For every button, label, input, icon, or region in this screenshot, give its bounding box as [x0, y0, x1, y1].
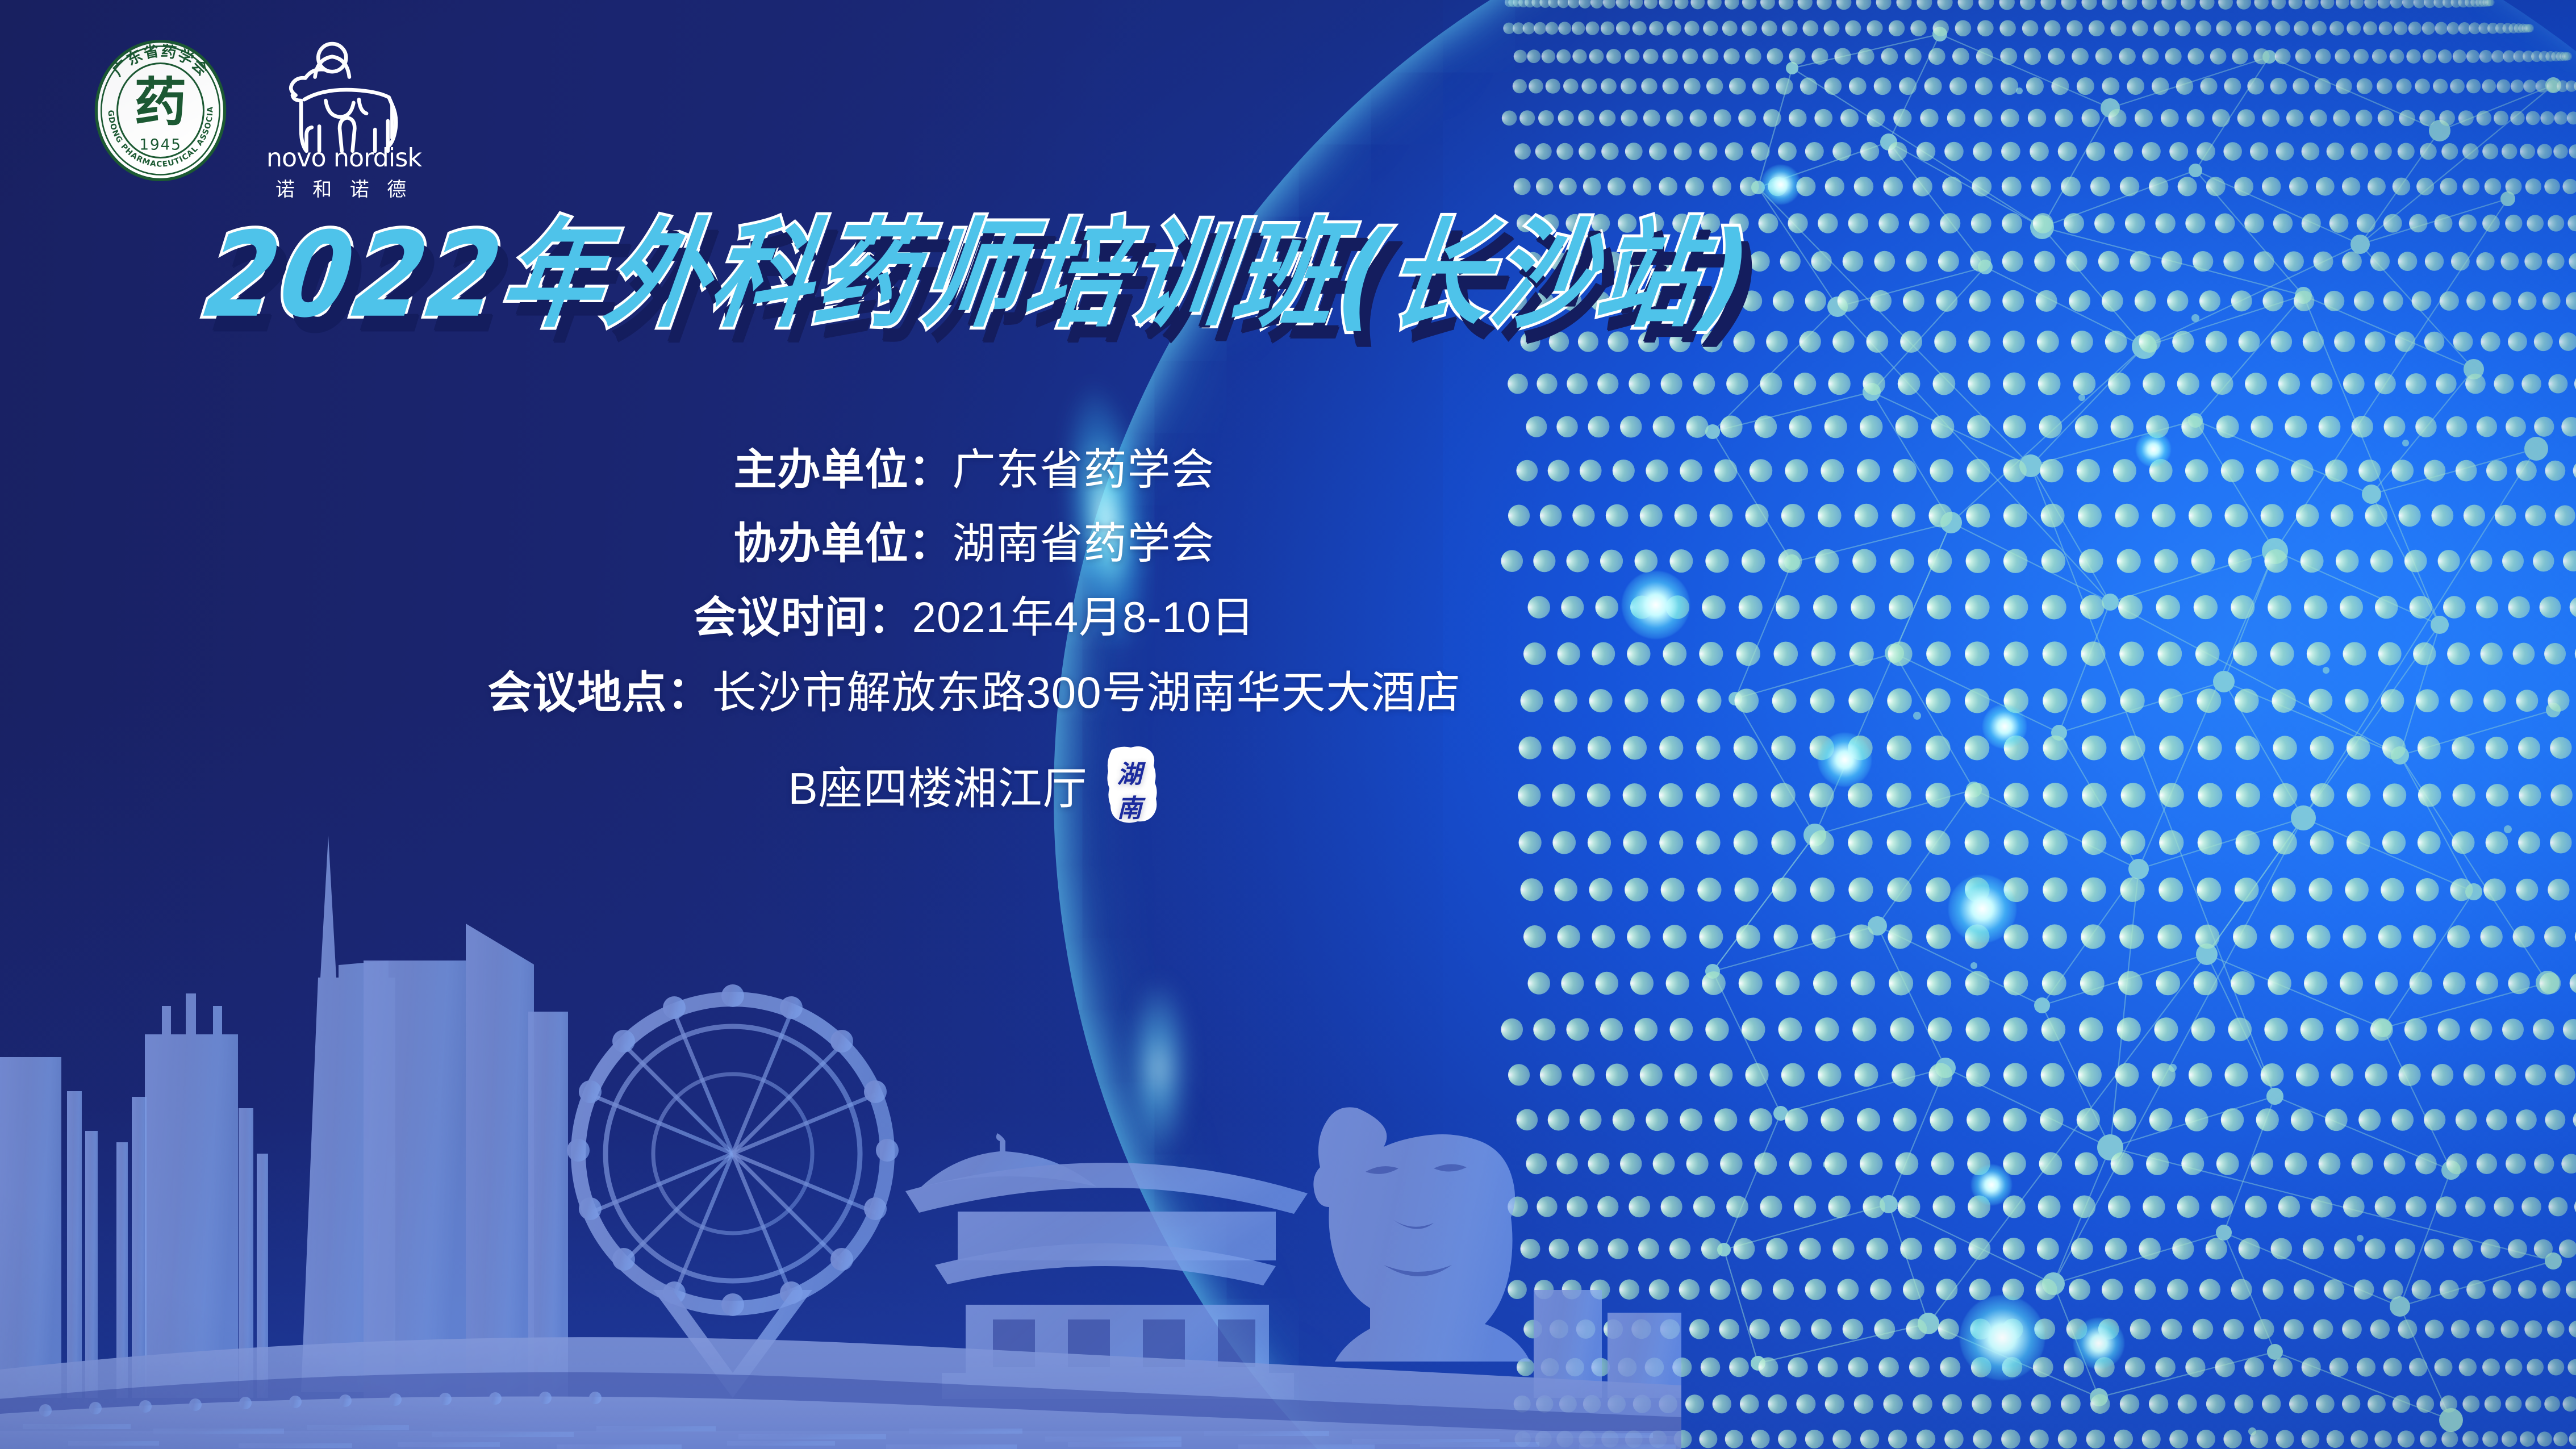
title-block: 2022年外科药师培训班(长沙站) [0, 223, 1960, 329]
venue-line: 会议地点：长沙市解放东路300号湖南华天大酒店 [0, 670, 1948, 715]
sparkle-glow [1960, 1295, 2045, 1380]
gpa-center-glyph: 药 [135, 72, 187, 133]
changsha-city-skyline [0, 790, 1681, 1449]
gpa-founded-year: 1945 [139, 136, 182, 153]
hall-value: B座四楼湘江厅 [788, 766, 1087, 811]
sparkle-glow [2136, 432, 2171, 467]
date-line: 会议时间：2021年4月8-10日 [0, 596, 1948, 640]
venue-value: 长沙市解放东路300号湖南华天大酒店 [712, 667, 1460, 717]
sponsor-logos: 广东省药学会 GUANGDONG PHARMACEUTICAL ASSOCIAT… [85, 35, 425, 186]
novo-nordisk-wordmark: novo nordisk [266, 144, 422, 173]
sparkle-glow [1982, 704, 2027, 749]
apis-bull-icon [291, 44, 396, 151]
sparkle-glow [1761, 165, 1801, 204]
co-organizer-value: 湖南省药学会 [953, 520, 1215, 568]
co-organizer-label: 协办单位： [734, 520, 953, 568]
sparkle-glow [2073, 1318, 2124, 1369]
organizer-value: 广东省药学会 [953, 446, 1215, 494]
novo-nordisk-logo: novo nordisk 诺 和 诺 德 [263, 35, 425, 177]
sparkle-glow [1948, 875, 2016, 943]
novo-nordisk-cn-name: 诺 和 诺 德 [263, 174, 425, 202]
organizer-label: 主办单位： [734, 446, 953, 494]
date-value: 2021年4月8-10日 [912, 594, 1255, 642]
conference-details: 主办单位：广东省药学会 协办单位：湖南省药学会 会议时间：2021年4月8-10… [0, 449, 1948, 832]
gpa-logo: 广东省药学会 GUANGDONG PHARMACEUTICAL ASSOCIAT… [85, 35, 236, 186]
hunan-seal-icon: 湖 南 [1099, 745, 1160, 832]
poster-title: 2022年外科药师培训班(长沙站) [199, 214, 1761, 337]
date-label: 会议时间： [694, 594, 912, 642]
co-organizer-line: 协办单位：湖南省药学会 [0, 523, 1948, 566]
hall-line: B座四楼湘江厅 湖 南 [0, 745, 1948, 832]
organizer-line: 主办单位：广东省药学会 [0, 449, 1948, 492]
conference-poster: 广东省药学会 GUANGDONG PHARMACEUTICAL ASSOCIAT… [0, 0, 2576, 1449]
seal-char-bottom: 南 [1117, 794, 1146, 823]
venue-label: 会议地点： [487, 667, 712, 717]
seal-char-top: 湖 [1117, 760, 1146, 789]
sparkle-glow [1971, 1164, 2012, 1205]
